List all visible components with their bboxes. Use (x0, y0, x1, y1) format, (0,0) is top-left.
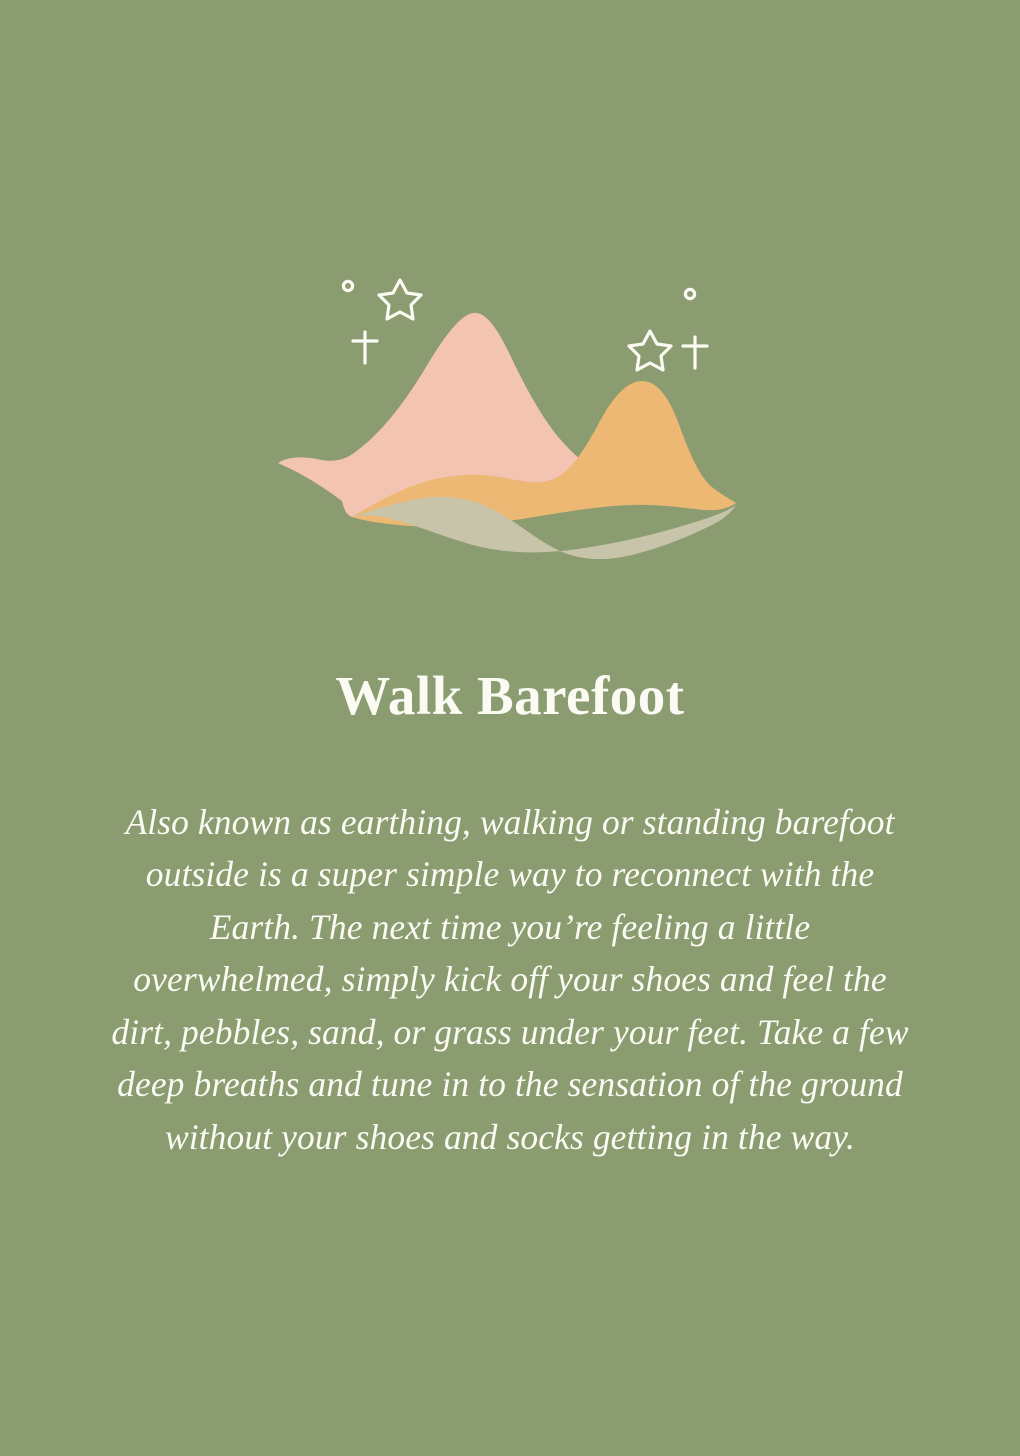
sparkle-group-left (343, 280, 421, 363)
page-title: Walk Barefoot (0, 667, 1020, 725)
star-sparkle-left (379, 280, 421, 319)
circle-sparkle-right (685, 289, 694, 298)
plus-sparkle-left (353, 332, 377, 363)
body-paragraph: Also known as earthing, walking or stand… (110, 796, 910, 1164)
plus-sparkle-right (683, 337, 707, 368)
mountain-landscape-illustration (260, 255, 760, 595)
star-sparkle-right (629, 331, 671, 370)
poster-card: Walk Barefoot Also known as earthing, wa… (0, 0, 1020, 1456)
sparkle-group-right (629, 289, 707, 370)
circle-sparkle-left (343, 281, 352, 290)
